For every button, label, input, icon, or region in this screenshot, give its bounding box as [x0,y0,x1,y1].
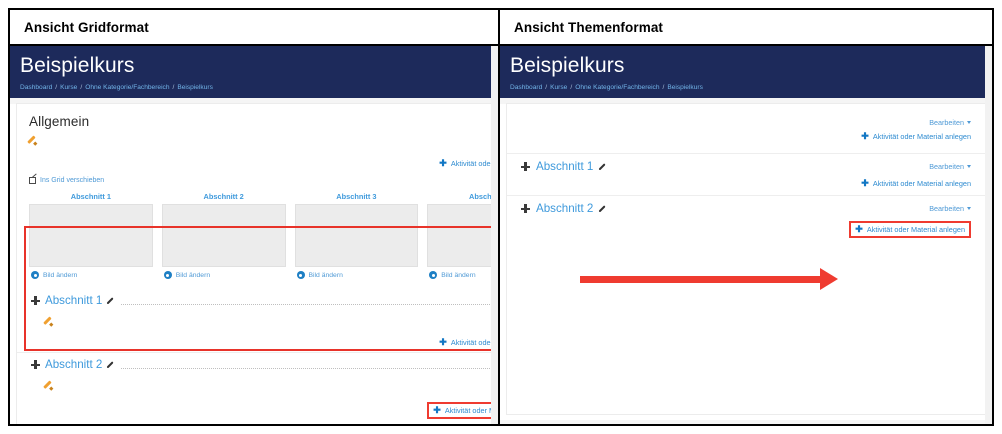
add-activity-label: Aktivität oder Material anlegen [451,338,496,347]
plus-icon: ✚ [855,225,863,234]
section-add-row: ✚ Aktivität oder Material anlegen [31,338,496,347]
move-to-grid-row[interactable]: Ins Grid verschieben [17,177,496,184]
right-top-edit-row: Bearbeiten [521,118,971,127]
grid-card-title: Abschnitt 1 [29,192,153,201]
section-header: Abschnitt 1 Bearbeiten [31,294,496,307]
chevron-down-icon [967,207,971,210]
breadcrumb-course[interactable]: Beispielkurs [667,84,703,91]
grid-cards-row: Abschnitt 1 Bild ändern Abschnitt 2 [17,184,496,279]
section-edit-label: Bearbeiten [929,162,964,171]
change-image-row[interactable]: Bild ändern [162,271,286,279]
change-image-label[interactable]: Bild ändern [309,272,343,279]
right-page-body: Bearbeiten ✚ Aktivität oder Material anl… [500,104,992,420]
panel-themenformat: Ansicht Themenformat Beispielkurs Dashbo… [500,10,992,424]
grid-card-title: Abschnitt 2 [162,192,286,201]
change-image-row[interactable]: Bild ändern [29,271,153,279]
left-breadcrumb: Dashboard/Kurse/Ohne Kategorie/Fachberei… [10,84,496,91]
left-browser-viewport: Beispielkurs Dashboard/Kurse/Ohne Katego… [10,46,498,424]
section-name-link[interactable]: Abschnitt 2 [536,202,593,215]
breadcrumb-sep: / [663,84,665,91]
move-icon[interactable] [31,296,40,305]
add-activity-link-highlighted[interactable]: ✚ Aktivität oder Material anlegen [849,221,971,238]
plus-icon: ✚ [861,132,869,141]
section-edit-label: Bearbeiten [929,204,964,213]
pencil-icon[interactable] [29,134,39,144]
grid-card[interactable]: Abschnitt 4 Bild ändern [427,192,496,279]
move-grid-icon [29,177,36,184]
left-course-header: Beispielkurs Dashboard/Kurse/Ohne Katego… [10,46,496,98]
breadcrumb-sep: / [545,84,547,91]
breadcrumb-kurse[interactable]: Kurse [60,84,77,91]
section-divider [121,297,496,305]
breadcrumb-sep: / [80,84,82,91]
plus-icon: ✚ [433,406,441,415]
breadcrumb-sep: / [173,84,175,91]
change-image-label[interactable]: Bild ändern [176,272,210,279]
grid-card-thumbnail[interactable] [162,204,286,267]
general-section: Allgemein [17,104,496,149]
change-image-row[interactable]: Bild ändern [427,271,496,279]
section-name-link[interactable]: Abschnitt 2 [45,358,102,371]
right-course-title: Beispielkurs [500,54,992,78]
section-name-link[interactable]: Abschnitt 1 [45,294,102,307]
chevron-down-icon [967,121,971,124]
section-header: Abschnitt 2 Bearbeiten [521,202,971,215]
section-divider [121,361,496,369]
breadcrumb-category[interactable]: Ohne Kategorie/Fachbereich [575,84,659,91]
section-add-row: ✚ Aktivität oder Material anlegen [521,179,971,188]
pencil-icon[interactable] [599,204,608,213]
gear-icon [31,271,39,279]
add-activity-label: Aktivität oder Material anlegen [873,179,971,188]
breadcrumb-course[interactable]: Beispielkurs [177,84,213,91]
add-activity-label: Aktivität oder Material anlegen [873,132,971,141]
grid-card-thumbnail[interactable] [295,204,419,267]
section-name-link[interactable]: Abschnitt 1 [536,160,593,173]
move-to-grid-label[interactable]: Ins Grid verschieben [40,177,104,184]
plus-icon: ✚ [439,338,447,347]
add-activity-label: Aktivität oder Material anlegen [451,159,496,168]
panel-gridformat: Ansicht Gridformat Beispielkurs Dashboar… [10,10,500,424]
move-icon[interactable] [521,204,530,213]
chevron-down-icon [967,165,971,168]
grid-card[interactable]: Abschnitt 3 Bild ändern [295,192,419,279]
breadcrumb-dashboard[interactable]: Dashboard [510,84,542,91]
grid-card-thumbnail[interactable] [427,204,496,267]
gear-icon [164,271,172,279]
grid-card[interactable]: Abschnitt 2 Bild ändern [162,192,286,279]
section-row: Abschnitt 2 Bearbeiten ✚ [507,195,985,245]
right-general-block: Bearbeiten ✚ Aktivität oder Material anl… [507,104,985,141]
panel-left-caption: Ansicht Gridformat [10,10,498,46]
plus-icon: ✚ [861,179,869,188]
left-content-card: Allgemein ✚ Aktivität oder Material anle… [17,104,496,424]
breadcrumb-sep: / [570,84,572,91]
add-activity-label: Aktivität oder Material anlegen [445,406,496,415]
change-image-label[interactable]: Bild ändern [441,272,475,279]
section-add-row: ✚ Aktivität oder Material anlegen [31,402,496,419]
right-sections-list: Abschnitt 1 Bearbeiten ✚ [507,153,985,245]
section-row: Abschnitt 1 Bearbeiten ✚ [507,153,985,195]
change-image-row[interactable]: Bild ändern [295,271,419,279]
section-row: Abschnitt 1 Bearbeiten [17,289,496,352]
pencil-icon[interactable] [107,360,116,369]
section-edit-menu[interactable]: Bearbeiten [929,162,971,171]
grid-card-title: Abschnitt 4 [427,192,496,201]
panel-right-caption-text: Ansicht Themenformat [514,20,663,35]
section-row: Abschnitt 2 Bearbeiten [17,352,496,424]
section-summary-edit-row [31,310,496,330]
add-activity-link[interactable]: ✚ Aktivität oder Material anlegen [439,338,496,347]
move-icon[interactable] [521,162,530,171]
right-breadcrumb: Dashboard/Kurse/Ohne Kategorie/Fachberei… [500,84,992,91]
left-clip: Beispielkurs Dashboard/Kurse/Ohne Katego… [10,46,496,424]
plus-icon: ✚ [439,159,447,168]
grid-card-thumbnail[interactable] [29,204,153,267]
add-activity-link-highlighted[interactable]: ✚ Aktivität oder Material anlegen [427,402,496,419]
grid-card[interactable]: Abschnitt 1 Bild ändern [29,192,153,279]
breadcrumb-sep: / [55,84,57,91]
change-image-label[interactable]: Bild ändern [43,272,77,279]
move-icon[interactable] [31,360,40,369]
comparison-figure: Ansicht Gridformat Beispielkurs Dashboar… [8,8,994,426]
pencil-icon[interactable] [45,315,55,325]
add-activity-link-general[interactable]: ✚ Aktivität oder Material anlegen [861,132,971,141]
pencil-icon[interactable] [599,162,608,171]
right-course-header: Beispielkurs Dashboard/Kurse/Ohne Katego… [500,46,992,98]
panel-left-caption-text: Ansicht Gridformat [24,20,149,35]
pencil-icon[interactable] [45,379,55,389]
scrollbar-gutter[interactable] [491,46,498,424]
gear-icon [297,271,305,279]
right-content-card: Bearbeiten ✚ Aktivität oder Material anl… [507,104,985,414]
left-sections-list: Abschnitt 1 Bearbeiten [17,289,496,424]
left-page-body: Allgemein ✚ Aktivität oder Material anle… [10,104,496,424]
section-header: Abschnitt 2 Bearbeiten [31,358,496,371]
section-edit-menu[interactable]: Bearbeiten [929,204,971,213]
section-header: Abschnitt 1 Bearbeiten [521,160,971,173]
grid-card-title: Abschnitt 3 [295,192,419,201]
left-course-title: Beispielkurs [10,54,496,78]
breadcrumb-category[interactable]: Ohne Kategorie/Fachbereich [85,84,169,91]
section-summary-edit-row [31,374,496,394]
add-activity-label: Aktivität oder Material anlegen [867,225,965,234]
breadcrumb-kurse[interactable]: Kurse [550,84,567,91]
scrollbar-gutter[interactable] [985,46,992,424]
section-add-row: ✚ Aktivität oder Material anlegen [521,221,971,238]
add-activity-link-general[interactable]: ✚ Aktivität oder Material anlegen [439,159,496,168]
add-activity-link[interactable]: ✚ Aktivität oder Material anlegen [861,179,971,188]
top-edit-menu[interactable]: Bearbeiten [929,118,971,127]
left-page-inner: Beispielkurs Dashboard/Kurse/Ohne Katego… [10,46,496,424]
top-edit-label: Bearbeiten [929,118,964,127]
general-heading: Allgemein [29,114,496,129]
general-add-row: ✚ Aktivität oder Material anlegen [17,159,496,168]
right-top-add-row: ✚ Aktivität oder Material anlegen [521,132,971,141]
panel-right-caption: Ansicht Themenformat [500,10,992,46]
breadcrumb-dashboard[interactable]: Dashboard [20,84,52,91]
right-browser-viewport: Beispielkurs Dashboard/Kurse/Ohne Katego… [500,46,992,424]
gear-icon [429,271,437,279]
pencil-icon[interactable] [107,296,116,305]
